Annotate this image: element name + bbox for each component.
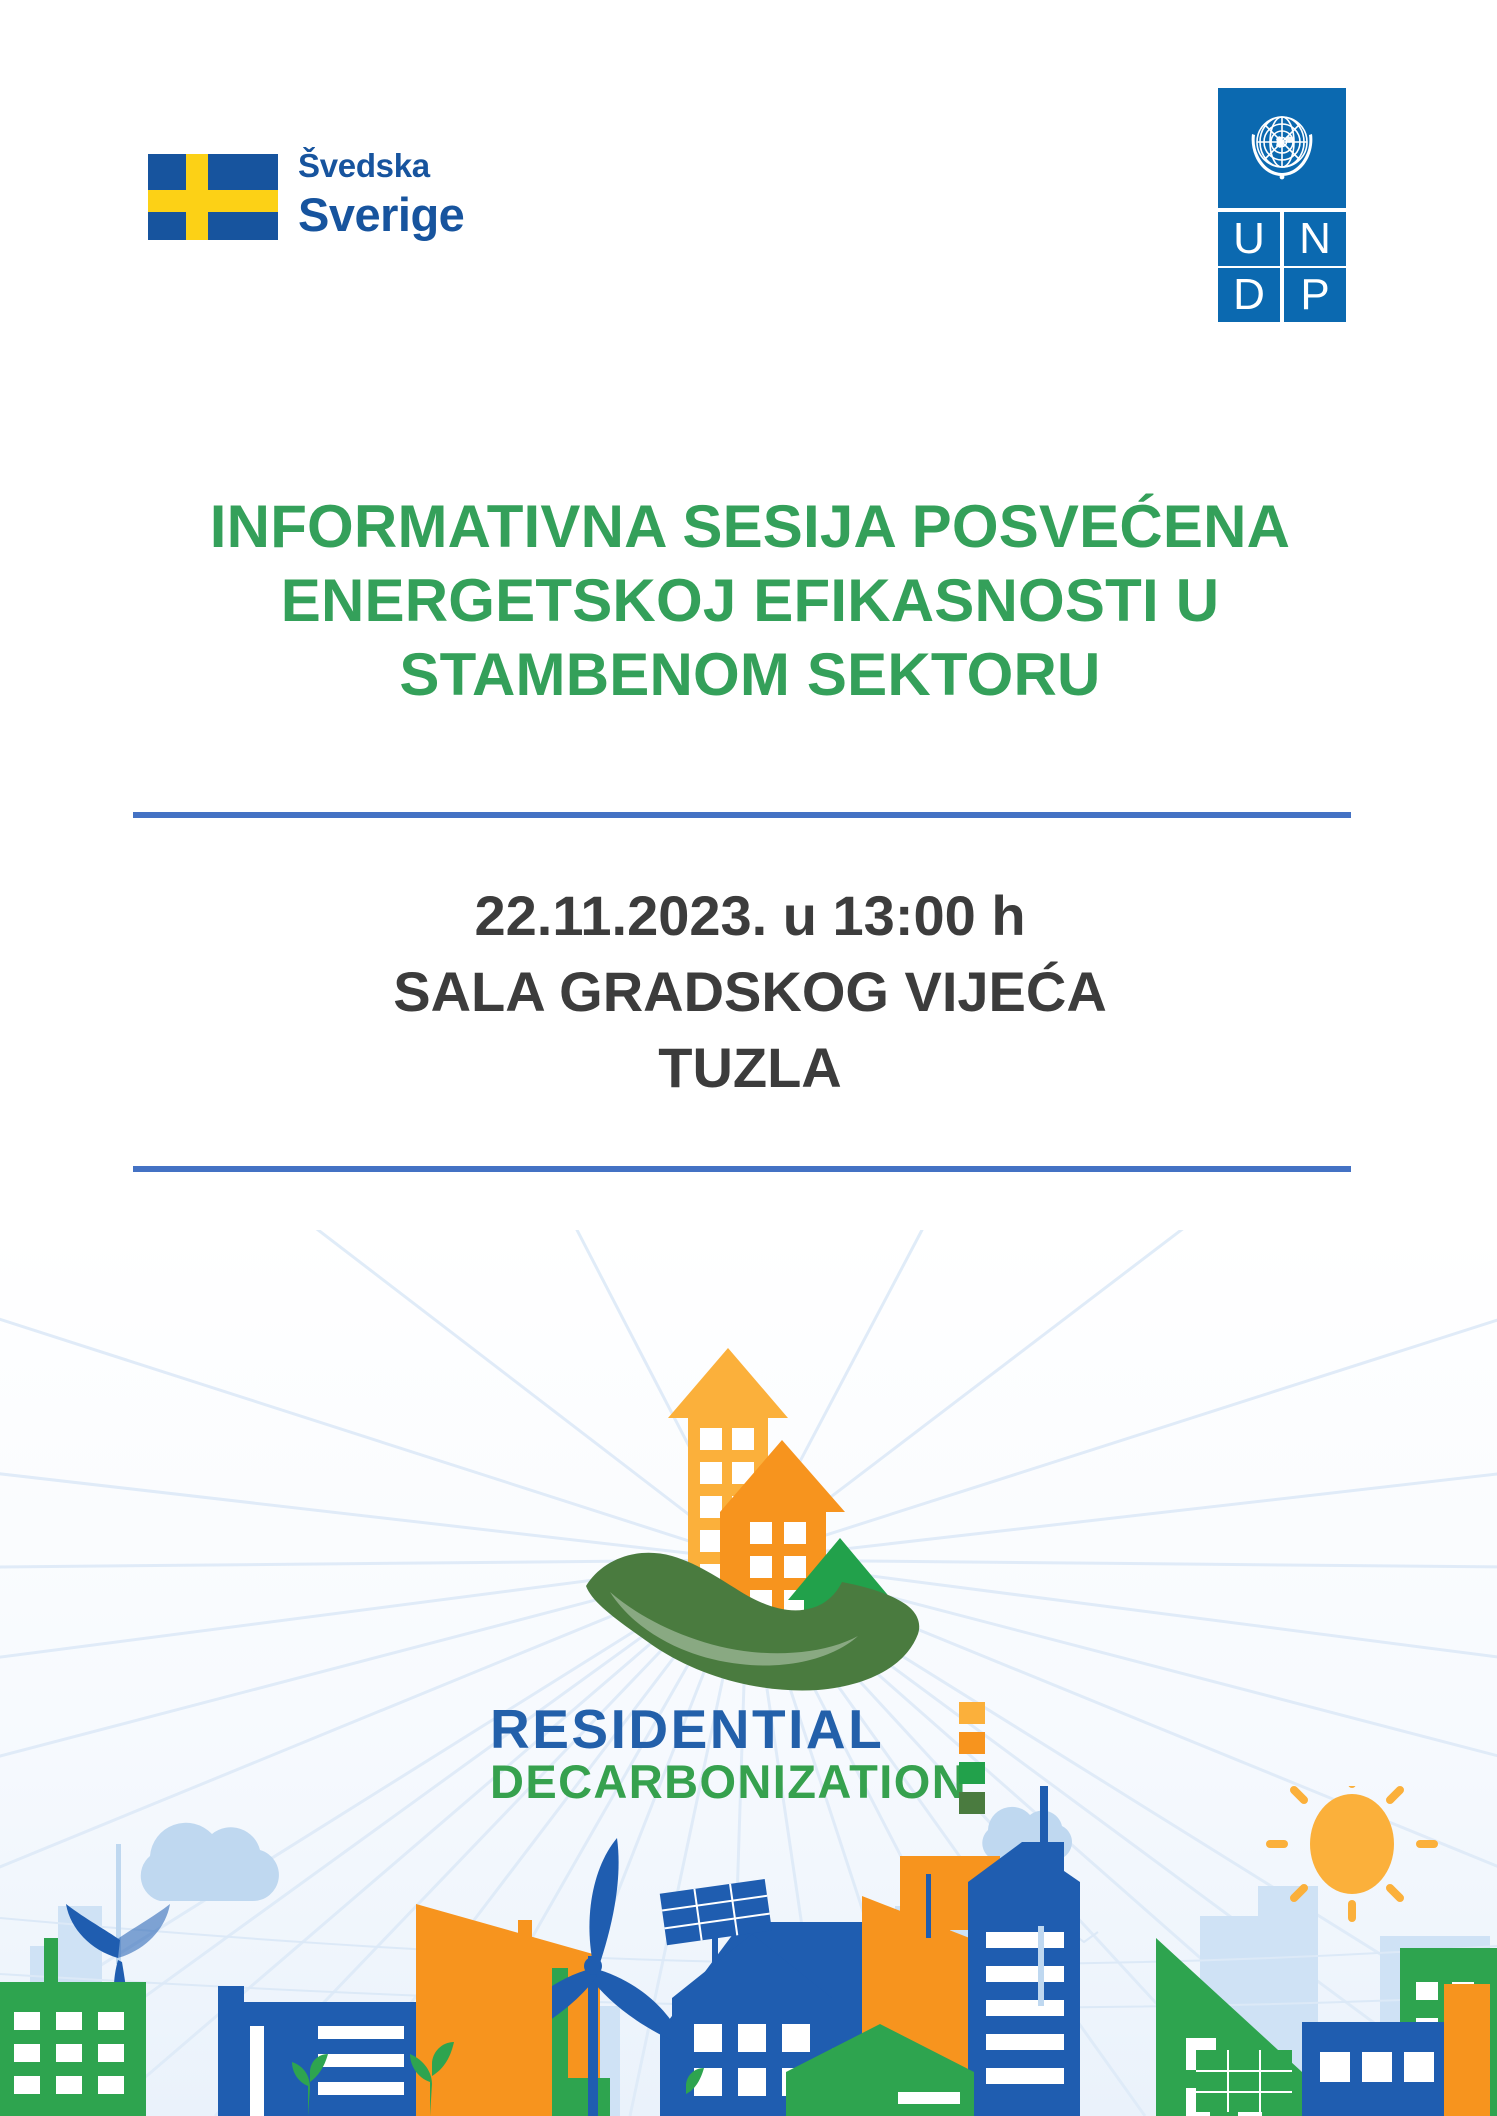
hand-buildings-icon: [550, 1300, 950, 1700]
page-title: INFORMATIVNA SESIJA POSVEĆENA ENERGETSKO…: [110, 490, 1390, 712]
title-line-2: ENERGETSKOJ EFIKASNOSTI U: [110, 564, 1390, 638]
un-emblem-icon: [1218, 88, 1346, 208]
divider-top: [133, 812, 1351, 818]
sweden-wordmark: Švedska Sverige: [298, 148, 464, 242]
event-details: 22.11.2023. u 13:00 h SALA GRADSKOG VIJE…: [110, 878, 1390, 1106]
undp-letter-u: U: [1218, 212, 1280, 266]
sweden-label-bs: Švedska: [298, 148, 464, 184]
swatch-amber: [959, 1702, 985, 1724]
swatch-orange: [959, 1732, 985, 1754]
sweden-flag-icon: [148, 154, 278, 240]
wordmark-residential: RESIDENTIAL: [490, 1700, 884, 1758]
flag-cross-horizontal: [148, 190, 278, 212]
undp-letter-n: N: [1284, 212, 1346, 266]
event-city: TUZLA: [110, 1030, 1390, 1106]
event-venue: SALA GRADSKOG VIJEĆA: [110, 954, 1390, 1030]
sweden-sverige-logo: Švedska Sverige: [148, 148, 488, 252]
undp-letter-p: P: [1284, 268, 1346, 322]
event-datetime: 22.11.2023. u 13:00 h: [110, 878, 1390, 954]
residential-decarbonization-logo: RESIDENTIAL DECARBONIZATION: [470, 1300, 1030, 1860]
undp-logo: U N D P: [1218, 88, 1346, 322]
sweden-label-sv: Sverige: [298, 188, 464, 242]
divider-bottom: [133, 1166, 1351, 1172]
title-line-1: INFORMATIVNA SESIJA POSVEĆENA: [110, 490, 1390, 564]
swatch-green: [959, 1762, 985, 1784]
poster-canvas: Švedska Sverige: [0, 0, 1497, 2116]
undp-letter-d: D: [1218, 268, 1280, 322]
title-line-3: STAMBENOM SEKTORU: [110, 638, 1390, 712]
skyline-foreground: [0, 1786, 1497, 2116]
